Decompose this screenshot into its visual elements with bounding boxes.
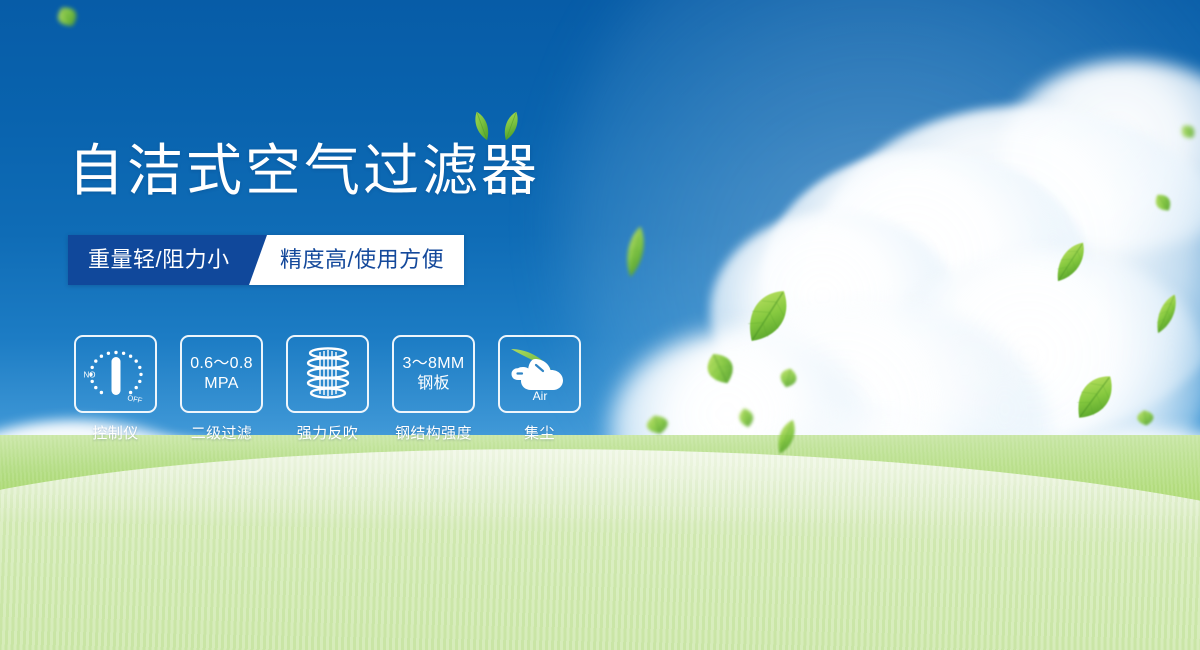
gauge-on-label: NO	[83, 371, 95, 380]
subtitle-right-label: 精度高/使用方便	[280, 235, 444, 285]
steel-plate-text-icon: 3～8MM 钢板	[403, 354, 465, 394]
feature-item-control-gauge[interactable]: NO OFF 控制仪	[74, 335, 157, 443]
page-title: 自洁式空气过滤器	[68, 143, 540, 199]
feature-label: 强力反吹	[297, 422, 359, 443]
feature-icon-box: 0.6～0.8 MPA	[180, 335, 263, 413]
cloud-air-label: Air	[532, 389, 547, 403]
feature-icon-box: NO OFF	[74, 335, 157, 413]
feature-item-steel-plate[interactable]: 3～8MM 钢板 钢结构强度	[392, 335, 475, 443]
filter-cartridge-icon	[300, 344, 356, 404]
feature-label: 二级过滤	[191, 422, 253, 443]
feature-icon-row: NO OFF 控制仪 0.6～0.8 MPA 二级过滤	[74, 335, 581, 443]
feature-icon-box	[286, 335, 369, 413]
feature-label: 控制仪	[92, 422, 138, 443]
grass-field	[0, 435, 1200, 650]
pressure-text-icon: 0.6～0.8 MPA	[190, 354, 253, 394]
dial-gauge-icon: NO OFF	[80, 342, 152, 406]
feature-item-dust-collection[interactable]: Air 集尘	[498, 335, 581, 443]
subtitle-left-label: 重量轻/阻力小	[88, 235, 230, 285]
gauge-off-label: OFF	[126, 393, 143, 405]
feature-item-pressure[interactable]: 0.6～0.8 MPA 二级过滤	[180, 335, 263, 443]
feature-label: 集尘	[524, 422, 555, 443]
feature-icon-box: 3～8MM 钢板	[392, 335, 475, 413]
feature-icon-box: Air	[498, 335, 581, 413]
hero-banner: 自洁式空气过滤器 重量轻/阻力小 精度高/使用方便	[0, 0, 1200, 650]
feature-label: 钢结构强度	[395, 422, 472, 443]
ground-haze	[0, 435, 1200, 525]
cloud-air-icon: Air	[505, 343, 575, 405]
subtitle-band: 重量轻/阻力小 精度高/使用方便	[68, 235, 464, 285]
cloud-wisp	[860, 330, 1070, 410]
feature-item-backblow[interactable]: 强力反吹	[286, 335, 369, 443]
